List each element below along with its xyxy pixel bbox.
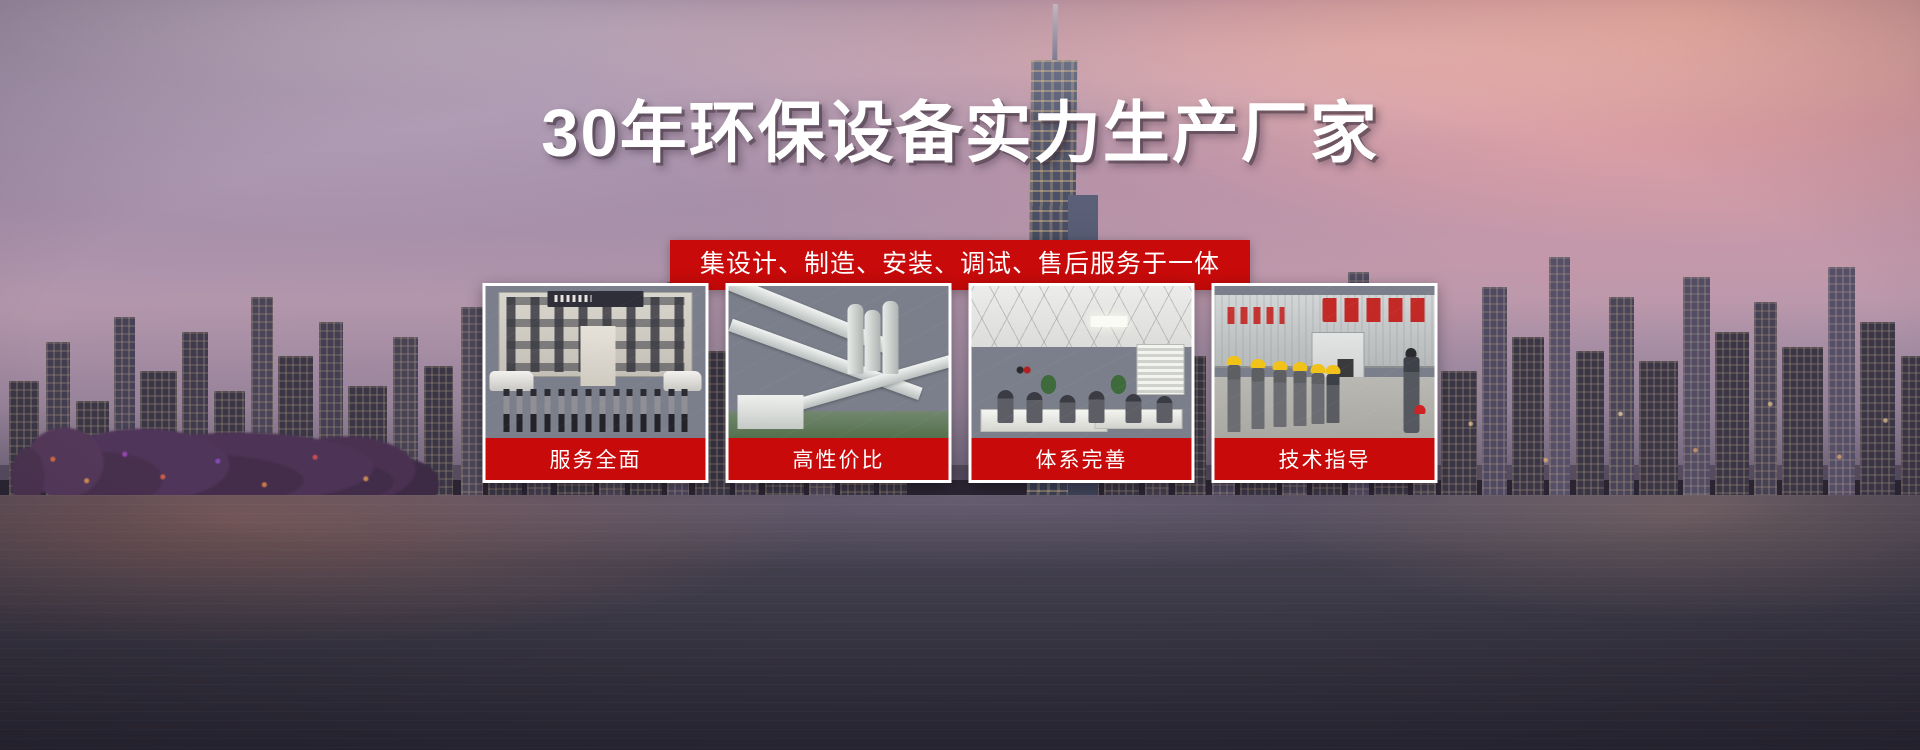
plant-shed bbox=[737, 395, 803, 428]
factory-slogan-large bbox=[1322, 298, 1428, 322]
office-interior-team-photo bbox=[972, 286, 1192, 438]
worker-2 bbox=[1252, 368, 1265, 429]
storage-silo-1 bbox=[847, 304, 863, 374]
building-entrance bbox=[580, 326, 615, 387]
banner-headline: 30年环保设备实力生产厂家 bbox=[0, 100, 1920, 167]
storage-silo-3 bbox=[883, 301, 899, 374]
worker-1 bbox=[1228, 365, 1241, 432]
feature-card-caption: 高性价比 bbox=[729, 438, 949, 480]
storage-silo-2 bbox=[865, 310, 881, 371]
supervisor bbox=[1403, 357, 1419, 433]
worker-6 bbox=[1327, 374, 1340, 423]
factory-yard bbox=[1215, 377, 1435, 438]
feature-card-service[interactable]: 服务全面 bbox=[483, 283, 709, 483]
feature-card-caption: 服务全面 bbox=[486, 438, 706, 480]
building-sign bbox=[547, 291, 644, 308]
feature-card-guidance[interactable]: 技术指导 bbox=[1212, 283, 1438, 483]
feature-card-caption: 技术指导 bbox=[1215, 438, 1435, 480]
banner-content: 30年环保设备实力生产厂家 集设计、制造、安装、调试、售后服务于一体 bbox=[0, 0, 1920, 750]
industrial-plant-aerial-photo bbox=[729, 286, 949, 438]
factory-workers-helmets-photo bbox=[1215, 286, 1435, 438]
ceiling-grid bbox=[972, 286, 1192, 347]
factory-slogan-small bbox=[1228, 307, 1285, 324]
seated-staff bbox=[972, 362, 1192, 423]
hero-banner: 30年环保设备实力生产厂家 集设计、制造、安装、调试、售后服务于一体 bbox=[0, 0, 1920, 750]
red-helmet bbox=[1415, 405, 1426, 414]
office-building-staff-photo bbox=[486, 286, 706, 438]
worker-4 bbox=[1294, 371, 1307, 426]
feature-card-value[interactable]: 高性价比 bbox=[726, 283, 952, 483]
worker-3 bbox=[1274, 370, 1287, 428]
worker-5 bbox=[1311, 373, 1324, 425]
staff-lineup bbox=[503, 382, 688, 432]
feature-card-row: 服务全面 高性价比 bbox=[483, 283, 1438, 483]
feature-card-system[interactable]: 体系完善 bbox=[969, 283, 1195, 483]
feature-card-caption: 体系完善 bbox=[972, 438, 1192, 480]
ceiling-light-panel bbox=[1090, 316, 1127, 327]
